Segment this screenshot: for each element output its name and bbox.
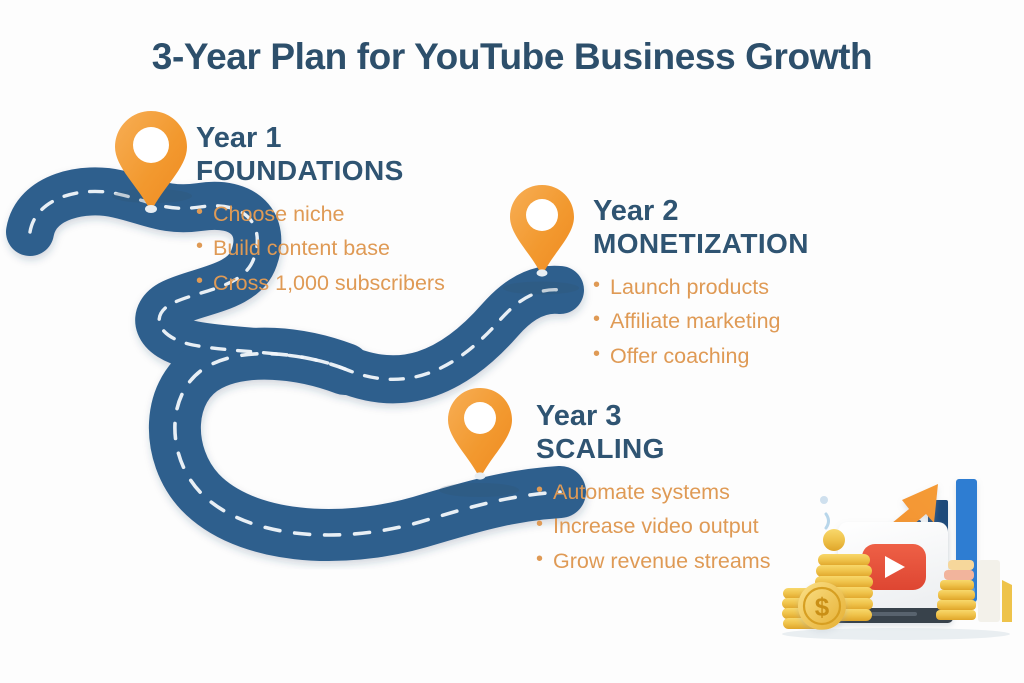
map-pin-year-3[interactable] [443, 385, 517, 483]
milestone-phase-label: SCALING [536, 432, 770, 465]
milestone-year-3: Year 3 SCALING Automate systems Increase… [536, 400, 770, 579]
milestone-item-list: Choose niche Build content base Cross 1,… [196, 197, 445, 301]
pin-shadow [439, 483, 519, 497]
list-item: Choose niche [196, 197, 445, 232]
page-title: 3-Year Plan for YouTube Business Growth [0, 36, 1024, 78]
list-item: Grow revenue streams [536, 544, 770, 579]
map-pin-year-1[interactable] [110, 108, 192, 216]
milestone-year-2: Year 2 MONETIZATION Launch products Affi… [593, 195, 809, 374]
list-item: Affiliate marketing [593, 304, 809, 339]
dollar-symbol: $ [815, 592, 830, 622]
list-item: Cross 1,000 subscribers [196, 266, 445, 301]
milestone-phase-label: FOUNDATIONS [196, 154, 445, 187]
list-item: Increase video output [536, 509, 770, 544]
milestone-phase-label: MONETIZATION [593, 227, 809, 260]
infographic-canvas: 3-Year Plan for YouTube Business Growth [0, 0, 1024, 683]
youtube-growth-illustration: $ [778, 462, 1024, 662]
milestone-year-label: Year 1 [196, 122, 445, 154]
list-item: Build content base [196, 231, 445, 266]
list-item: Automate systems [536, 475, 770, 510]
milestone-year-label: Year 2 [593, 195, 809, 227]
pin-shadow [503, 282, 579, 295]
map-pin-year-2[interactable] [505, 182, 579, 280]
list-item: Launch products [593, 270, 809, 305]
milestone-year-label: Year 3 [536, 400, 770, 432]
list-item: Offer coaching [593, 339, 809, 374]
milestone-item-list: Automate systems Increase video output G… [536, 475, 770, 579]
dollar-coin-icon: $ [798, 582, 846, 630]
milestone-year-1: Year 1 FOUNDATIONS Choose niche Build co… [196, 122, 445, 301]
ground-shadow [782, 628, 1010, 640]
milestone-item-list: Launch products Affiliate marketing Offe… [593, 270, 809, 374]
